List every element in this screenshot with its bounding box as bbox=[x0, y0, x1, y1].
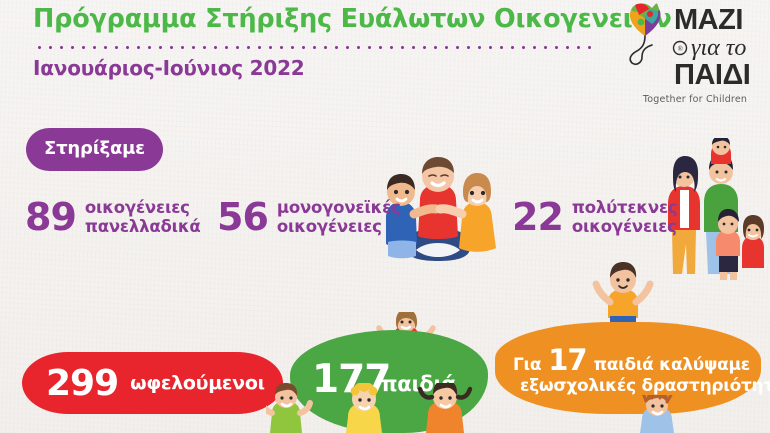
stat-label-line2: οικογένειες bbox=[277, 217, 401, 236]
stat-label: πολύτεκνες οικογένειες bbox=[572, 198, 678, 236]
three-children-peeking-illustration bbox=[266, 383, 496, 433]
supported-badge-label: Στηρίξαμε bbox=[44, 138, 145, 159]
stat-label-line1: μονογονεϊκές bbox=[277, 198, 401, 217]
svg-text:ΠΑΙΔΙ: ΠΑΙΔΙ bbox=[674, 59, 750, 91]
stat-large-families: 22 πολύτεκνες οικογένειες bbox=[512, 198, 678, 236]
stat-number: 22 bbox=[512, 198, 563, 236]
activities-prefix: Για bbox=[513, 355, 541, 375]
activities-highlight-blob: Για 17 παιδιά καλύψαμε εξωσχολικές δραστ… bbox=[495, 322, 761, 414]
stat-single-parent-families: 56 μονογονεϊκές οικογένειες bbox=[217, 198, 401, 236]
stat-number: 89 bbox=[25, 198, 76, 236]
svg-text:για το: για το bbox=[691, 35, 746, 61]
stat-label-line2: οικογένειες bbox=[572, 217, 678, 236]
stat-label: μονογονεϊκές οικογένειες bbox=[277, 198, 401, 236]
beneficiaries-highlight-pill: 299 ωφελούμενοι bbox=[22, 352, 283, 414]
activities-suffix: παιδιά καλύψαμε bbox=[594, 355, 750, 375]
logo-tagline: Together for Children bbox=[622, 94, 768, 105]
beneficiaries-label: ωφελούμενοι bbox=[130, 372, 265, 394]
stat-label-line1: πολύτεκνες bbox=[572, 198, 678, 217]
activities-line2: εξωσχολικές δραστηριότητες bbox=[520, 376, 770, 396]
mazi-gia-to-paidi-logo-mark: ΜΑΖΙ ® για το ΠΑΙΔΙ bbox=[622, 2, 768, 94]
large-family-five-members-illustration bbox=[662, 138, 766, 280]
beneficiaries-count: 299 bbox=[46, 363, 118, 404]
stat-label-line1: οικογένειες bbox=[85, 198, 201, 217]
stat-families-nationwide: 89 οικογένειες πανελλαδικά bbox=[25, 198, 201, 236]
organization-logo: ΜΑΖΙ ® για το ΠΑΙΔΙ Together for Childre… bbox=[622, 2, 768, 114]
svg-text:®: ® bbox=[678, 45, 684, 53]
stat-label: οικογένειες πανελλαδικά bbox=[85, 198, 201, 236]
activities-line1: Για 17 παιδιά καλύψαμε bbox=[513, 343, 750, 377]
svg-text:ΜΑΖΙ: ΜΑΖΙ bbox=[674, 4, 743, 36]
supported-badge: Στηρίξαμε bbox=[26, 128, 163, 171]
boy-bottom-right-illustration bbox=[630, 395, 692, 433]
activities-count: 17 bbox=[548, 343, 586, 377]
page-title: Πρόγραμμα Στήριξης Ευάλωτων Οικογενειών bbox=[33, 4, 672, 34]
stat-number: 56 bbox=[217, 198, 268, 236]
stat-label-line2: πανελλαδικά bbox=[85, 217, 201, 236]
date-range-subtitle: Ιανουάριος-Ιούνιος 2022 bbox=[33, 56, 305, 80]
title-dotted-divider bbox=[34, 46, 599, 49]
